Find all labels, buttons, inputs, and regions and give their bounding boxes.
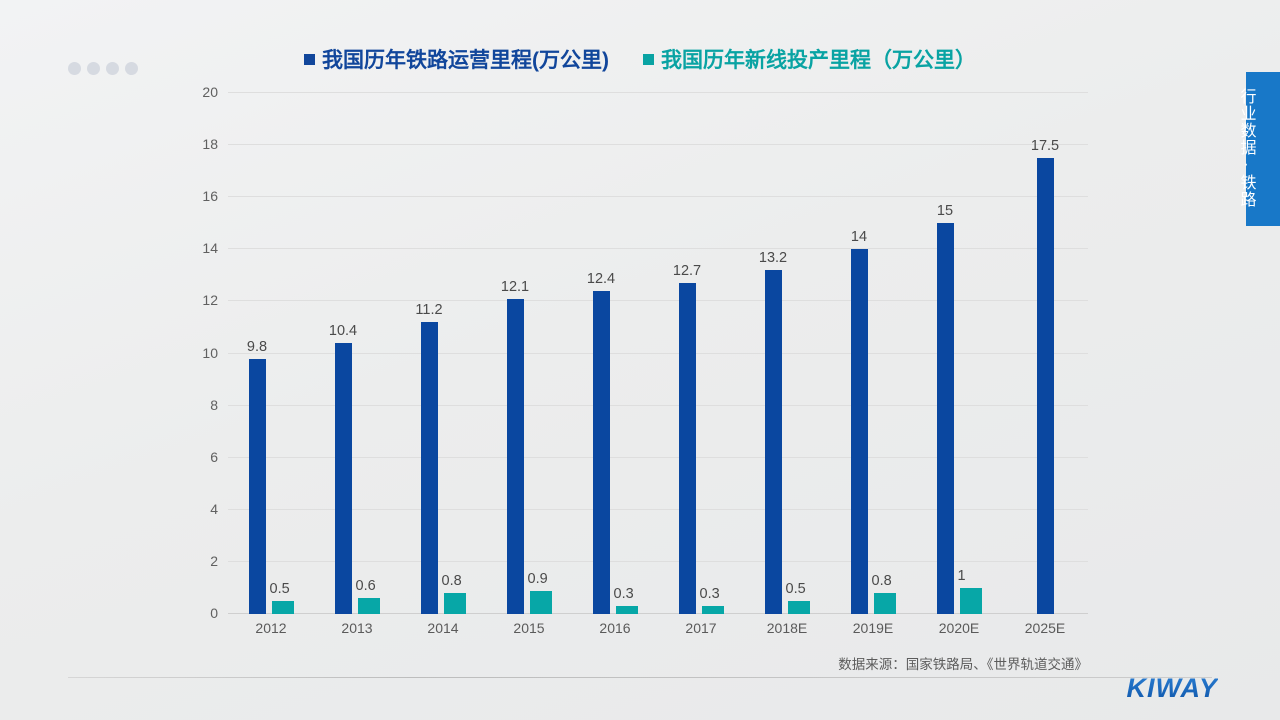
legend-item-new-line-mileage: 我国历年新线投产里程（万公里） <box>643 44 976 74</box>
bar-rect[interactable] <box>851 249 868 614</box>
y-axis-tick: 14 <box>202 240 218 256</box>
bar-value-label: 12.1 <box>501 279 529 295</box>
bar-rect[interactable] <box>530 591 552 614</box>
bar-new-line-mileage[interactable]: 0.9 <box>530 93 552 614</box>
x-axis-tick: 2012 <box>255 620 286 636</box>
x-axis-tick: 2015 <box>513 620 544 636</box>
y-axis-tick: 2 <box>210 553 218 569</box>
bar-value-label: 17.5 <box>1031 138 1059 154</box>
bar-value-label: 10.4 <box>329 323 357 339</box>
bar-rect[interactable] <box>679 283 696 614</box>
bar-rect[interactable] <box>960 588 982 614</box>
bar-value-label: 14 <box>851 229 867 245</box>
source-note: 数据来源：国家铁路局、《世界轨道交通》 <box>838 653 1088 673</box>
bar-chart: 024681012141618209.80.510.40.611.20.812.… <box>186 86 1091 632</box>
bar-operating-mileage[interactable]: 10.4 <box>335 93 352 614</box>
bar-operating-mileage[interactable]: 15 <box>937 93 954 614</box>
bar-group[interactable]: 10.40.6 <box>314 93 400 614</box>
bar-operating-mileage[interactable]: 13.2 <box>765 93 782 614</box>
bar-rect[interactable] <box>272 601 294 614</box>
bar-rect[interactable] <box>765 270 782 614</box>
bar-operating-mileage[interactable]: 17.5 <box>1037 93 1054 614</box>
legend-label: 我国历年新线投产里程（万公里） <box>661 44 976 74</box>
bar-group[interactable]: 12.70.3 <box>658 93 744 614</box>
bar-rect[interactable] <box>616 606 638 614</box>
bar-group[interactable]: 12.40.3 <box>572 93 658 614</box>
x-axis-tick: 2017 <box>685 620 716 636</box>
bar-rect[interactable] <box>249 359 266 614</box>
bar-value-label: 0.3 <box>700 586 720 602</box>
bar-value-label: 12.4 <box>587 271 615 287</box>
bar-group[interactable]: 13.20.5 <box>744 93 830 614</box>
side-tab-industry-data: 行业数据·铁路 <box>1246 72 1280 226</box>
bar-new-line-mileage[interactable]: 0.8 <box>874 93 896 614</box>
y-axis-tick: 8 <box>210 397 218 413</box>
bar-value-label: 0.5 <box>270 581 290 597</box>
x-axis-tick: 2019E <box>853 620 893 636</box>
bar-value-label: 12.7 <box>673 263 701 279</box>
bar-rect[interactable] <box>358 598 380 614</box>
bar-rect[interactable] <box>874 593 896 614</box>
bar-rect[interactable] <box>335 343 352 614</box>
bar-new-line-mileage[interactable]: 0.5 <box>272 93 294 614</box>
bars-container: 9.80.510.40.611.20.812.10.912.40.312.70.… <box>228 93 1088 614</box>
bar-rect[interactable] <box>788 601 810 614</box>
bar-value-label: 0.8 <box>442 573 462 589</box>
plot-area: 024681012141618209.80.510.40.611.20.812.… <box>228 93 1088 614</box>
y-axis-tick: 0 <box>210 605 218 621</box>
bar-value-label: 0.8 <box>872 573 892 589</box>
bar-rect[interactable] <box>937 223 954 614</box>
x-axis-tick: 2014 <box>427 620 458 636</box>
bar-value-label: 0.6 <box>356 578 376 594</box>
bar-operating-mileage[interactable]: 11.2 <box>421 93 438 614</box>
y-axis-tick: 6 <box>210 449 218 465</box>
bar-value-label: 0.3 <box>614 586 634 602</box>
x-axis-tick: 2020E <box>939 620 979 636</box>
bar-value-label: 0.9 <box>528 571 548 587</box>
bar-group[interactable]: 12.10.9 <box>486 93 572 614</box>
brand-logo: KIWAY <box>1127 673 1219 704</box>
bar-rect[interactable] <box>702 606 724 614</box>
bar-rect[interactable] <box>507 299 524 614</box>
bar-rect[interactable] <box>444 593 466 614</box>
y-axis-tick: 20 <box>202 84 218 100</box>
side-tab-label: 行业数据·铁路 <box>1238 88 1255 208</box>
bar-operating-mileage[interactable]: 9.8 <box>249 93 266 614</box>
legend-item-operating-mileage: 我国历年铁路运营里程(万公里) <box>304 44 609 74</box>
y-axis-tick: 16 <box>202 188 218 204</box>
footer-divider <box>68 677 1212 678</box>
bar-value-label: 11.2 <box>415 302 442 318</box>
bar-value-label: 15 <box>937 203 953 219</box>
y-axis-tick: 18 <box>202 136 218 152</box>
legend-label: 我国历年铁路运营里程(万公里) <box>322 44 609 74</box>
x-axis-tick: 2025E <box>1025 620 1065 636</box>
bar-new-line-mileage[interactable]: 0.8 <box>444 93 466 614</box>
bar-new-line-mileage[interactable]: 0.5 <box>788 93 810 614</box>
bar-group[interactable]: 11.20.8 <box>400 93 486 614</box>
y-axis-tick: 4 <box>210 501 218 517</box>
legend-swatch-icon <box>304 54 315 65</box>
x-axis-tick: 2016 <box>599 620 630 636</box>
bar-group[interactable]: 151 <box>916 93 1002 614</box>
y-axis-tick: 10 <box>202 345 218 361</box>
bar-value-label: 1 <box>958 568 966 584</box>
chart-legend: 我国历年铁路运营里程(万公里) 我国历年新线投产里程（万公里） <box>0 44 1280 74</box>
bar-new-line-mileage[interactable]: 0.3 <box>616 93 638 614</box>
bar-new-line-mileage[interactable]: 0.3 <box>702 93 724 614</box>
bar-group[interactable]: 140.8 <box>830 93 916 614</box>
x-axis-tick: 2013 <box>341 620 372 636</box>
bar-rect[interactable] <box>593 291 610 614</box>
bar-operating-mileage[interactable]: 14 <box>851 93 868 614</box>
bar-operating-mileage[interactable]: 12.7 <box>679 93 696 614</box>
legend-swatch-icon <box>643 54 654 65</box>
bar-new-line-mileage[interactable]: 1 <box>960 93 982 614</box>
x-axis-labels: 2012201320142015201620172018E2019E2020E2… <box>228 620 1088 642</box>
bar-operating-mileage[interactable]: 12.1 <box>507 93 524 614</box>
bar-rect[interactable] <box>421 322 438 614</box>
bar-group[interactable]: 17.5 <box>1002 93 1088 614</box>
bar-value-label: 0.5 <box>786 581 806 597</box>
x-axis-tick: 2018E <box>767 620 807 636</box>
bar-value-label: 9.8 <box>247 339 267 355</box>
bar-rect[interactable] <box>1037 158 1054 614</box>
bar-new-line-mileage[interactable]: 0.6 <box>358 93 380 614</box>
bar-operating-mileage[interactable]: 12.4 <box>593 93 610 614</box>
y-axis-tick: 12 <box>202 292 218 308</box>
bar-group[interactable]: 9.80.5 <box>228 93 314 614</box>
bar-value-label: 13.2 <box>759 250 787 266</box>
